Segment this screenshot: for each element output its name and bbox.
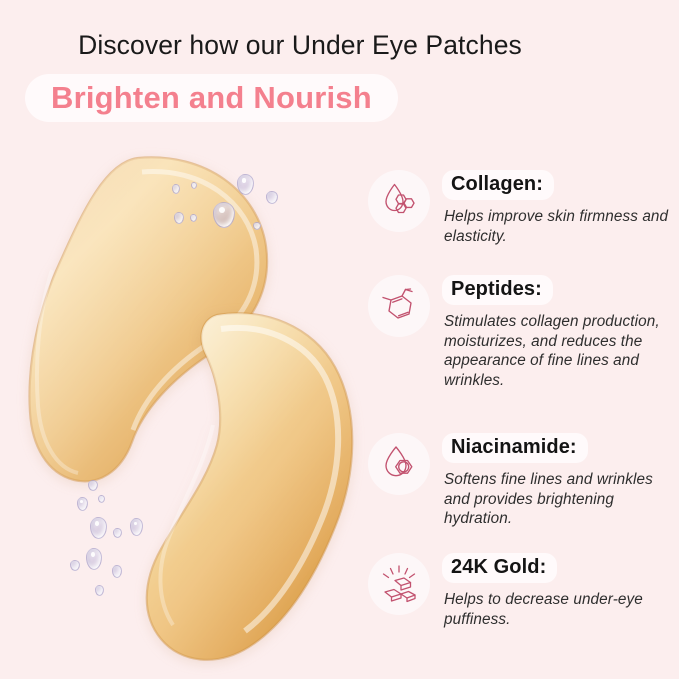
ingredient-heading: Collagen:: [442, 170, 554, 200]
ingredient-text-peptides: Peptides: Stimulates collagen production…: [442, 275, 674, 390]
niacinamide-droplet-hexagon-icon: [368, 433, 430, 495]
ingredient-heading: Peptides:: [442, 275, 553, 305]
water-droplet: [77, 497, 88, 511]
water-droplet: [90, 517, 107, 539]
subtitle-badge: Brighten and Nourish: [25, 74, 398, 122]
water-droplet: [113, 528, 122, 538]
page-title: Discover how our Under Eye Patches: [0, 30, 600, 61]
ingredient-description: Helps improve skin firmness and elastici…: [442, 207, 674, 246]
ingredient-description: Softens fine lines and wrinkles and prov…: [442, 470, 674, 529]
peptides-molecule-ring-icon: [368, 275, 430, 337]
gold-bars-sparkle-icon: [368, 553, 430, 615]
water-droplet: [112, 565, 122, 578]
water-droplet: [86, 548, 102, 570]
ingredient-text-24k-gold: 24K Gold: Helps to decrease under-eye pu…: [442, 553, 674, 629]
collagen-droplet-hexagons-icon: [368, 170, 430, 232]
ingredient-heading: Niacinamide:: [442, 433, 588, 463]
eye-patch-lower: [125, 305, 375, 675]
water-droplet: [95, 585, 104, 596]
water-droplet: [98, 495, 105, 503]
subtitle-text: Brighten and Nourish: [51, 80, 372, 116]
ingredient-heading: 24K Gold:: [442, 553, 557, 583]
ingredient-text-niacinamide: Niacinamide: Softens fine lines and wrin…: [442, 433, 674, 529]
ingredient-description: Helps to decrease under-eye puffiness.: [442, 590, 674, 629]
ingredient-text-collagen: Collagen: Helps improve skin firmness an…: [442, 170, 674, 246]
water-droplet: [70, 560, 80, 571]
product-image: [0, 140, 360, 679]
header: Discover how our Under Eye Patches Brigh…: [0, 0, 679, 140]
ingredient-description: Stimulates collagen production, moisturi…: [442, 312, 674, 390]
